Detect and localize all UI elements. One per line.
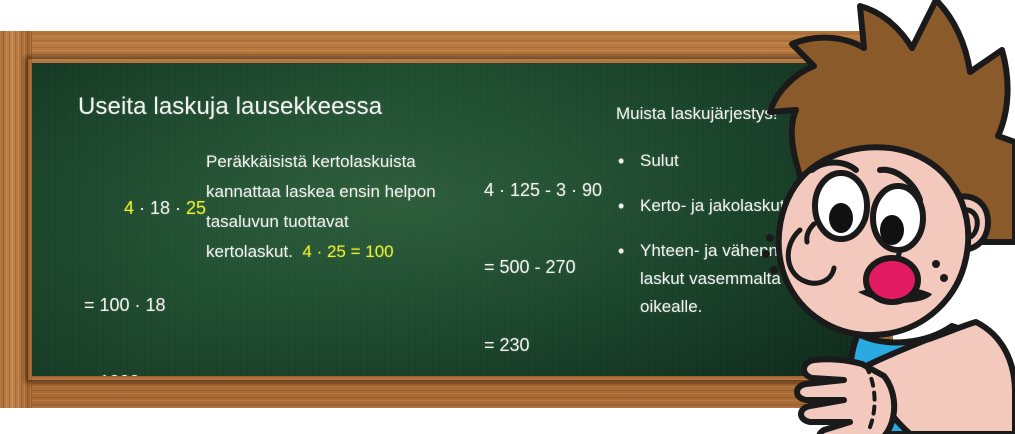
example-right-column: 4 · 125 - 3 · 90 = 500 - 270 = 230 [484,147,602,376]
ear-shape [954,196,988,249]
equation-line: 4 · 18 · 25 [84,181,206,238]
equation-line: = 100 · 18 [84,296,206,315]
equation-term: 25 [186,198,206,218]
chalkboard-surface: Useita laskuja lausekkeessa 4 · 18 · 25 … [32,63,861,376]
list-item: Yhteen- ja vähennys- laskut vasemmalta o… [616,237,836,321]
equation-line: 4 · 125 - 3 · 90 [484,181,602,200]
equation-term: 4 [124,198,134,218]
frame-rail-right [861,31,893,408]
ear-inner-line [961,210,977,238]
equation-line: = 230 [484,336,602,355]
explanation-paragraph: Peräkkäisistä kertolaskuista kannattaa l… [206,147,438,267]
equation-line: = 1800 [84,373,206,376]
order-of-operations-heading: Muista laskujärjestys! [616,105,778,123]
order-of-operations-list: Sulut Kerto- ja jakolaskut Yhteen- ja vä… [616,147,836,338]
equation-line: = 500 - 270 [484,258,602,277]
freckle [932,260,940,268]
explanation-highlight: 4 · 25 = 100 [302,242,393,261]
list-item: Kerto- ja jakolaskut [616,192,836,220]
list-item: Sulut [616,147,836,175]
freckle [940,274,948,282]
eyelash-right [892,250,900,268]
equation-term: · 18 · [134,198,186,218]
example-left-column: 4 · 18 · 25 = 100 · 18 = 1800 [84,147,206,376]
slide-scene: Useita laskuja lausekkeessa 4 · 18 · 25 … [0,0,1015,434]
page-title: Useita laskuja lausekkeessa [78,94,382,119]
